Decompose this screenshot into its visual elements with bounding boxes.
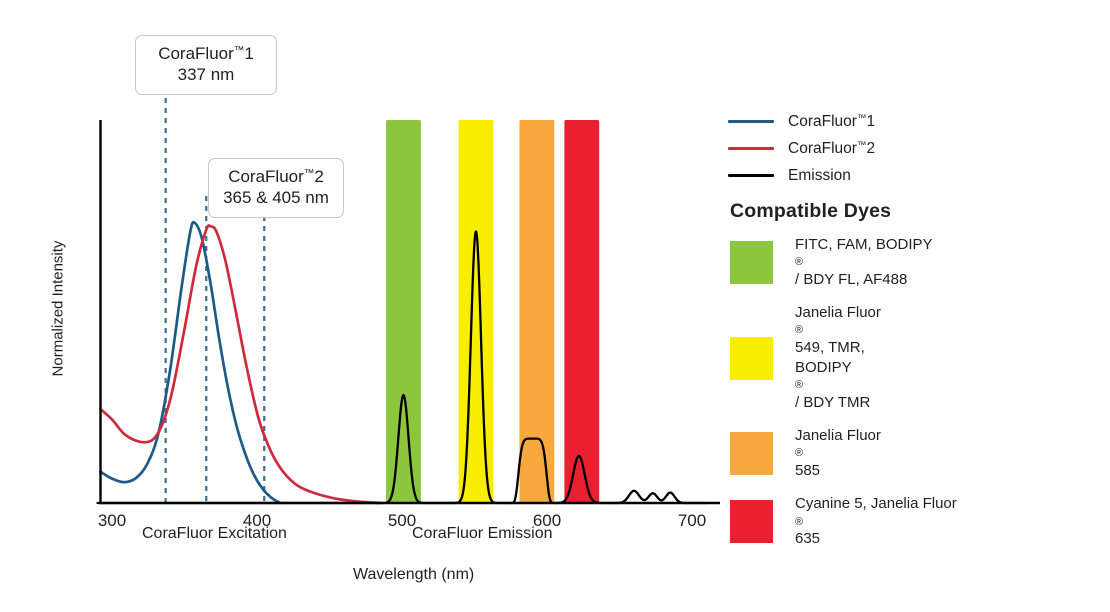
excitation-region-label: CoraFluor Excitation — [142, 525, 287, 543]
legend-item: CoraFluor™2 — [728, 135, 1098, 162]
legend-label: CoraFluor™1 — [788, 113, 875, 131]
dye-item: Cyanine 5, Janelia Fluor® 635 — [730, 494, 1105, 549]
legend-swatch-line — [728, 120, 774, 123]
dye-label: Janelia Fluor® 549, TMR,BODIPY®/ BDY TMR — [795, 303, 881, 413]
x-tick-300: 300 — [98, 511, 126, 530]
legend-item: Emission — [728, 162, 1098, 189]
dye-item: Janelia Fluor® 585 — [730, 426, 1105, 481]
legend-item: CoraFluor™1 — [728, 108, 1098, 135]
dye-band-2 — [519, 120, 554, 503]
dye-label: Cyanine 5, Janelia Fluor® 635 — [795, 494, 957, 549]
compatible-dyes-list: FITC, FAM, BODIPY®/ BDY FL, AF488 Janeli… — [730, 235, 1105, 562]
x-axis-title: Wavelength (nm) — [353, 566, 474, 584]
dye-color-swatch — [730, 432, 773, 475]
dye-item: FITC, FAM, BODIPY®/ BDY FL, AF488 — [730, 235, 1105, 290]
dye-label: FITC, FAM, BODIPY®/ BDY FL, AF488 — [795, 235, 933, 290]
legend-label: CoraFluor™2 — [788, 140, 875, 158]
compatible-dyes-heading: Compatible Dyes — [730, 200, 891, 223]
legend-swatch-line — [728, 147, 774, 150]
callout-corafluor2: CoraFluor™2 365 & 405 nm — [208, 158, 344, 218]
excitation-curve-1 — [100, 222, 280, 503]
legend-label: Emission — [788, 167, 851, 185]
excitation-curve-2 — [100, 225, 380, 503]
callout1-line2: 337 nm — [142, 65, 270, 86]
dye-band-3 — [564, 120, 599, 503]
dye-band-0 — [386, 120, 421, 503]
legend-swatch-line — [728, 174, 774, 177]
dye-band-1 — [459, 120, 494, 503]
y-axis-label: Normalized Intensity — [50, 224, 67, 394]
dye-item: Janelia Fluor® 549, TMR,BODIPY®/ BDY TMR — [730, 303, 1105, 413]
dye-color-swatch — [730, 500, 773, 543]
callout-corafluor1: CoraFluor™1 337 nm — [135, 35, 277, 95]
series-legend: CoraFluor™1 CoraFluor™2 Emission — [728, 108, 1098, 189]
x-tick-700: 700 — [678, 511, 706, 530]
callout2-line2: 365 & 405 nm — [215, 188, 337, 209]
callout1-line1: CoraFluor™1 — [142, 44, 270, 65]
dye-label: Janelia Fluor® 585 — [795, 426, 881, 481]
dye-color-swatch — [730, 241, 773, 284]
chart-figure: 300400500600700 CoraFluor™1 337 nm CoraF… — [0, 0, 1110, 612]
callout2-line1: CoraFluor™2 — [215, 167, 337, 188]
dye-color-swatch — [730, 337, 773, 380]
emission-region-label: CoraFluor Emission — [412, 525, 552, 543]
